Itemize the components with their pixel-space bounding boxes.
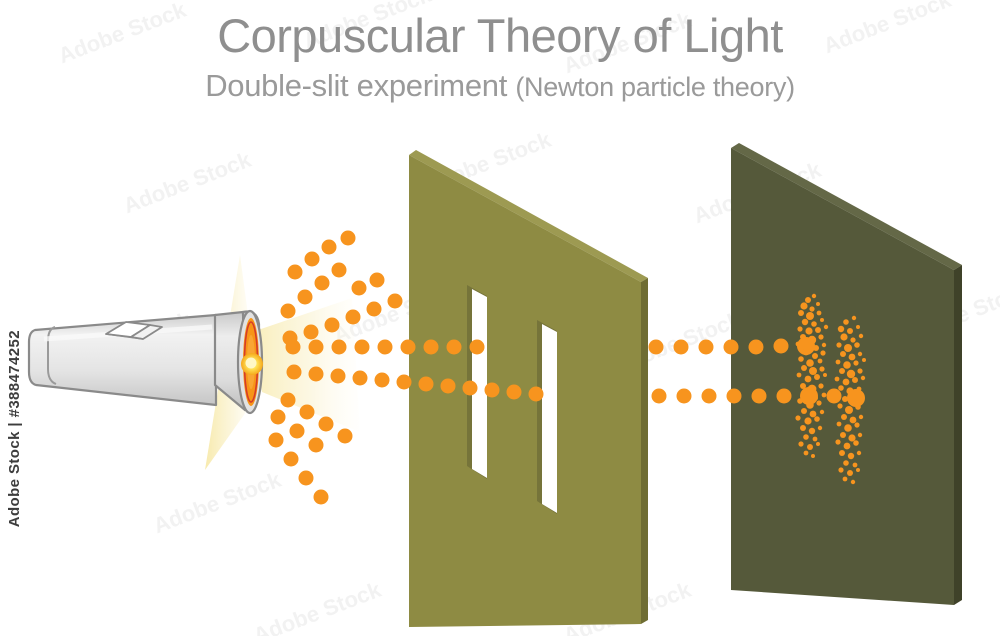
detector-screen: [731, 143, 962, 605]
stock-watermark: Adobe Stock | #388474252: [6, 330, 23, 527]
scene-svg: [0, 0, 1000, 636]
experiment-scene: [0, 0, 1000, 636]
illustration-canvas: Adobe Stock Adobe Stock Adobe Stock Adob…: [0, 0, 1000, 636]
slit-right: [537, 320, 557, 514]
